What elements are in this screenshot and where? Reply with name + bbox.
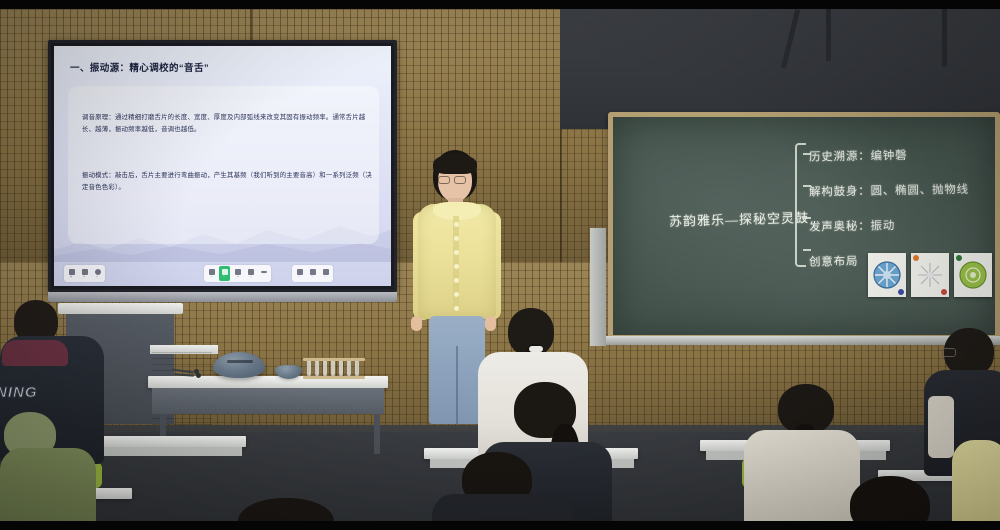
whiteboard-toolbar[interactable]: ▦ ▤ ◎ ▸ ✎ ▰ ◻ ─ ↶ ↷ ⋯ [54,263,391,283]
drum-tongue-slit [227,360,253,363]
green-circle-drawing [954,253,992,297]
letterbox-bottom [0,521,1000,530]
desk-apron [100,447,242,456]
line-icon[interactable]: ─ [258,266,269,281]
magnet-dot [898,289,904,295]
classroom-scene: 一、振动源：精心调校的“音舌” 调音原理：通过精细打磨舌片的长度、宽度、厚度及内… [0,0,1000,530]
student-green-hoodie [0,412,108,530]
student-bottom-center [432,452,582,530]
interactive-whiteboard[interactable]: 一、振动源：精心调校的“音舌” 调音原理：通过精细打磨舌片的长度、宽度、厚度及内… [48,40,397,292]
cardigan-button [454,264,459,269]
more-icon[interactable]: ⋯ [320,266,331,281]
mallet-head [196,373,201,378]
student-hoodie [0,448,96,530]
undo-icon[interactable]: ↶ [294,266,305,281]
menu-icon[interactable]: ▦ [66,266,77,281]
teacher-left-hand [411,316,422,331]
select-icon[interactable]: ▸ [206,266,217,281]
green-pattern-icon [958,260,988,290]
page-icon[interactable]: ▤ [79,266,90,281]
eraser-icon[interactable]: ▰ [232,266,243,281]
letterbox-top [0,0,1000,9]
cardigan-button [454,250,459,255]
blackboard-item-structure: 解构鼓身：圆、椭圆、抛物线 [809,180,999,199]
test-tube [331,361,335,376]
test-tube [323,361,327,376]
magnet-dot [956,255,962,261]
cardigan-button [454,236,459,241]
toolbar-group-right[interactable]: ↶ ↷ ⋯ [292,265,333,282]
cardigan-button [454,306,459,311]
projector-mount-arm [942,9,947,67]
steel-tongue-drum [213,352,265,378]
toolbar-group-left[interactable]: ▦ ▤ ◎ [64,265,105,282]
blackboard-item-history: 历史溯源：编钟磬 [809,145,999,164]
blackboard: 苏韵雅乐—探秘空灵鼓 历史溯源：编钟磬 解构鼓身：圆、椭圆、抛物线 发声奥秘：振… [608,112,1000,340]
pen-icon[interactable]: ✎ [219,266,230,281]
slide-content-card [68,86,379,244]
slide-paragraph-vibration-mode: 振动模式：敲击后，舌片主要进行弯曲振动，产生其基频（我们听到的主要音高）和一系列… [82,170,375,194]
mandala-pattern-icon [872,260,902,290]
student-desk [96,436,246,447]
white-radial-drawing [911,253,949,297]
glasses-icon [454,176,466,184]
blackboard-title: 苏韵雅乐—探秘空灵鼓 [669,207,809,230]
upper-dark-wall [560,9,1000,129]
toolbar-group-center[interactable]: ▸ ✎ ▰ ◻ ─ [204,265,271,282]
blue-mandala-drawing [868,253,906,297]
glasses-icon [942,348,956,357]
test-tube [347,361,351,376]
test-tube [315,361,319,376]
jacket-brand-text: NING [0,384,38,401]
test-tube-rack [303,358,365,379]
test-tube [339,361,343,376]
redo-icon[interactable]: ↷ [307,266,318,281]
mallet-pair [172,369,206,377]
cardigan-button [454,222,459,227]
magnet-dot [913,255,919,261]
cardigan-button [454,278,459,283]
rack-bottom-bar [303,376,365,379]
shape-icon[interactable]: ◻ [245,266,256,281]
demo-table-apron [152,388,384,414]
blackboard-item-sound: 发声奥秘：振动 [809,215,999,234]
radial-pattern-icon [915,260,945,290]
cardigan-button [454,292,459,297]
projector-mount-arm [826,9,831,61]
mallet-stick [174,373,194,376]
settings-icon[interactable]: ◎ [92,266,103,281]
magnet-dot [941,289,947,295]
jacket-hood [2,340,68,366]
slide-screen: 一、振动源：精心调校的“音舌” 调音原理：通过精细打磨舌片的长度、宽度、厚度及内… [54,46,391,286]
slide-paragraph-tuning-principle: 调音原理：通过精细打磨舌片的长度、宽度、厚度及内部弧线来改变其固有振动频率。通常… [82,112,375,136]
glasses-icon [438,176,450,184]
slide-title: 一、振动源：精心调校的“音舌” [70,60,209,74]
test-tube [307,361,311,376]
test-tube [355,361,359,376]
teacher-fringe [433,154,477,174]
puffer-panel [928,396,954,458]
table-leg [374,414,380,454]
jeans-seam [456,346,458,424]
